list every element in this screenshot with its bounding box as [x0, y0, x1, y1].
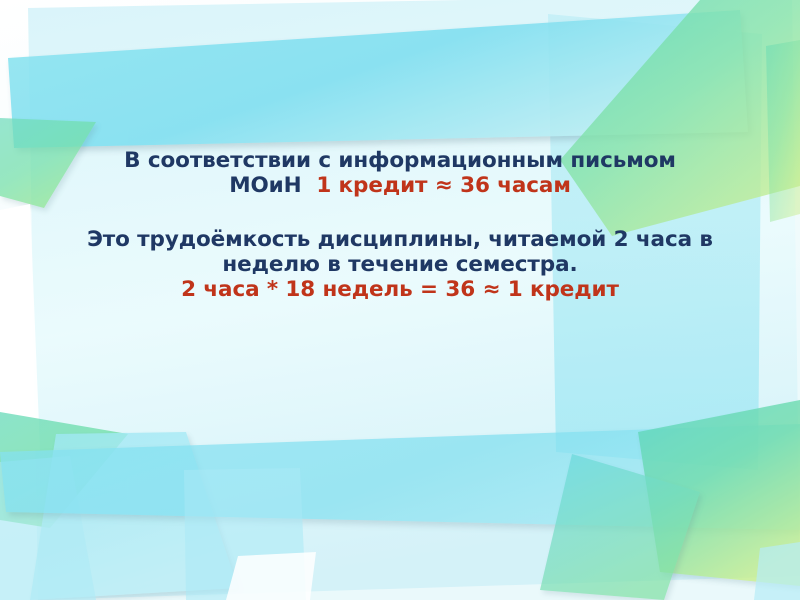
text-block: В соответствии с информационным письмом … [40, 148, 760, 303]
slide-content: В соответствии с информационным письмом … [0, 0, 800, 600]
paragraph-2-line-1-text: Это трудоёмкость дисциплины, читаемой 2 … [87, 227, 713, 252]
paragraph-2-line-2-text: неделю в течение семестра. [222, 252, 577, 277]
paragraph-2: Это трудоёмкость дисциплины, читаемой 2 … [40, 227, 760, 303]
paragraph-1-line-1-text: В соответствии с информационным письмом [124, 148, 676, 173]
paragraph-1-line-1: В соответствии с информационным письмом [40, 148, 760, 173]
paragraph-2-line-1: Это трудоёмкость дисциплины, читаемой 2 … [40, 227, 760, 252]
paragraph-2-line-2: неделю в течение семестра. [40, 252, 760, 277]
paragraph-gap [40, 199, 760, 227]
paragraph-2-line-3-text: 2 часа * 18 недель = 36 ≈ 1 кредит [181, 277, 619, 302]
paragraph-1-line-2: МОиН 1 кредит ≈ 36 часам [40, 173, 760, 198]
paragraph-1: В соответствии с информационным письмом … [40, 148, 760, 199]
spacer [302, 173, 317, 198]
paragraph-1-line-2-label: МОиН [229, 173, 301, 198]
paragraph-2-line-3: 2 часа * 18 недель = 36 ≈ 1 кредит [40, 277, 760, 302]
paragraph-1-line-2-accent: 1 кредит ≈ 36 часам [316, 173, 570, 198]
slide-canvas: В соответствии с информационным письмом … [0, 0, 800, 600]
